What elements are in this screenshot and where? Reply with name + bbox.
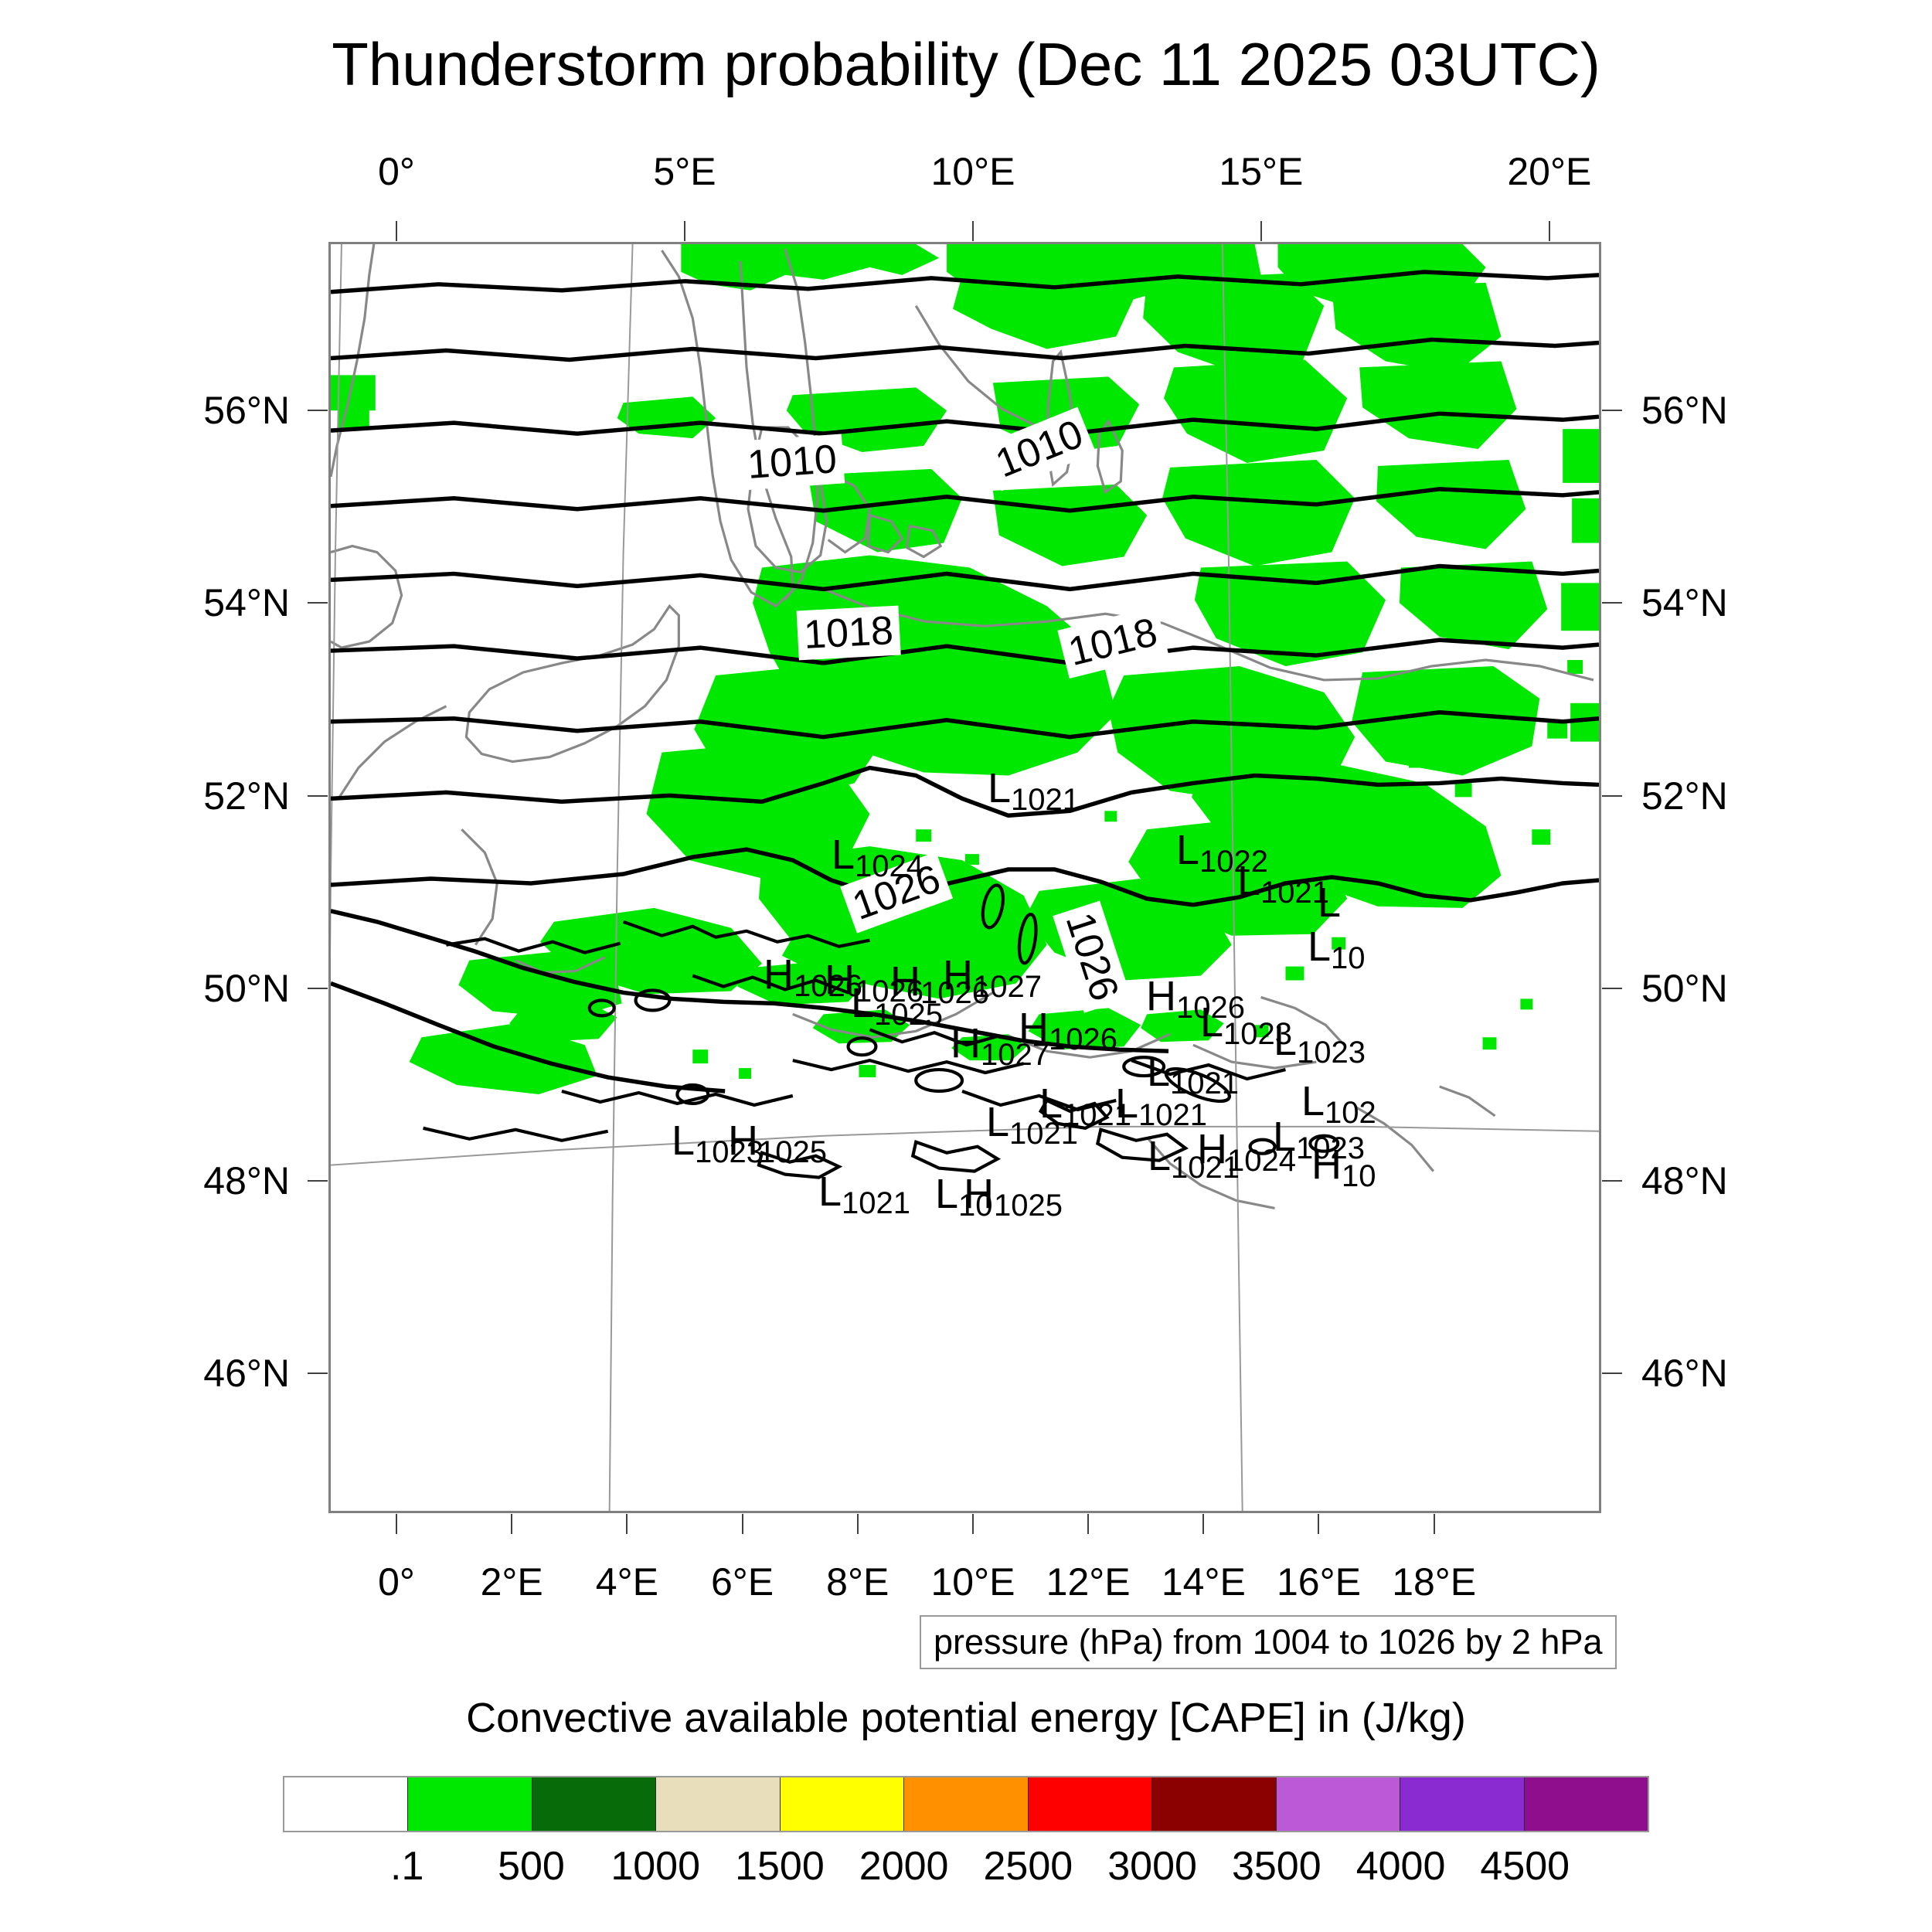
tick-mark-left-4 [308, 1180, 328, 1182]
pressure-interval-note: pressure (hPa) from 1004 to 1026 by 2 hP… [920, 1615, 1617, 1669]
colorbar-tick-9: 4500 [1480, 1843, 1570, 1889]
colorbar-segment-8[interactable] [1277, 1777, 1400, 1831]
axis-label-bottom-2: 4°E [596, 1560, 658, 1604]
tick-mark-bottom-6 [1087, 1514, 1089, 1534]
pressure-center-value: 102 [1325, 1096, 1376, 1130]
pressure-center-type: L [986, 1099, 1009, 1145]
colorbar-tick-4: 2000 [859, 1843, 949, 1889]
pressure-center-type: L [1237, 858, 1260, 904]
axis-label-right-5: 46°N [1641, 1351, 1728, 1396]
tick-mark-bottom-2 [626, 1514, 628, 1534]
pressure-center-type: L [832, 832, 855, 878]
isobar-label-1010-0: 1010 [740, 434, 845, 490]
pressure-center-l-9: L1021 [1115, 1083, 1207, 1124]
axis-label-left-2: 52°N [97, 774, 290, 818]
pressure-center-type: H [943, 952, 973, 998]
tick-mark-right-1 [1602, 602, 1622, 604]
pressure-center-l-6: L1023 [1274, 1020, 1366, 1062]
pressure-center-type: L [1176, 827, 1199, 873]
colorbar-segment-5[interactable] [904, 1777, 1028, 1831]
pressure-center-value: 1024 [855, 849, 923, 883]
axis-label-top-3: 15°E [1219, 149, 1303, 194]
page-title: Thunderstorm probability (Dec 11 2025 03… [0, 29, 1932, 100]
pressure-center-l-10: L1021 [986, 1101, 1078, 1143]
isobar-label-1018-2: 1018 [797, 606, 901, 661]
colorbar[interactable] [283, 1776, 1649, 1832]
colorbar-segment-9[interactable] [1400, 1777, 1524, 1831]
pressure-center-l-16: L102 [1301, 1080, 1376, 1122]
axis-label-bottom-0: 0° [378, 1560, 415, 1604]
colorbar-segment-1[interactable] [408, 1777, 532, 1831]
tick-mark-bottom-8 [1318, 1514, 1319, 1534]
tick-mark-top-1 [684, 221, 685, 241]
tick-mark-top-4 [1549, 221, 1550, 241]
pressure-center-h-22: H1027 [943, 954, 1042, 996]
tick-mark-bottom-3 [742, 1514, 743, 1534]
pressure-center-type: H [1311, 1141, 1342, 1188]
pressure-center-type: H [825, 957, 855, 1003]
axis-label-top-2: 10°E [930, 149, 1015, 194]
tick-mark-bottom-0 [396, 1514, 397, 1534]
colorbar-tick-7: 3500 [1232, 1843, 1321, 1889]
tick-mark-bottom-5 [972, 1514, 974, 1534]
axis-label-bottom-3: 6°E [711, 1560, 774, 1604]
colorbar-segment-6[interactable] [1029, 1777, 1152, 1831]
pressure-center-value: 1027 [981, 1038, 1049, 1072]
colorbar-segment-2[interactable] [532, 1777, 656, 1831]
axis-label-bottom-7: 14°E [1162, 1560, 1246, 1604]
pressure-center-value: 10 [1342, 1159, 1376, 1193]
tick-mark-right-2 [1602, 795, 1622, 797]
pressure-center-value: 1021 [1009, 1117, 1078, 1151]
pressure-center-h-29: H10 [1311, 1144, 1376, 1185]
pressure-center-l-3: L1021 [1237, 860, 1329, 902]
axis-label-right-2: 52°N [1641, 774, 1728, 818]
tick-mark-left-2 [308, 795, 328, 797]
axis-label-bottom-6: 12°E [1046, 1560, 1131, 1604]
tick-mark-left-0 [308, 410, 328, 411]
pressure-center-value: 1026 [1049, 1022, 1117, 1056]
tick-mark-top-0 [396, 221, 397, 241]
axis-label-left-4: 48°N [97, 1158, 290, 1203]
colorbar-tick-2: 1000 [611, 1843, 700, 1889]
pressure-center-type: L [1318, 879, 1341, 926]
colorbar-tick-8: 4000 [1356, 1843, 1446, 1889]
pressure-center-value: 1025 [758, 1135, 827, 1169]
tick-mark-right-0 [1602, 410, 1622, 411]
pressure-center-l-18: L [1318, 882, 1341, 923]
pressure-center-h-27: H1025 [728, 1120, 827, 1162]
axis-label-left-0: 56°N [97, 388, 290, 433]
pressure-center-type: H [951, 1020, 981, 1066]
axis-label-top-1: 5°E [653, 149, 716, 194]
pressure-center-l-0: L1021 [988, 767, 1080, 809]
pressure-center-l-17: L10 [1308, 926, 1366, 968]
tick-mark-left-1 [308, 602, 328, 604]
pressure-center-value: 1027 [973, 970, 1042, 1004]
colorbar-tick-5: 2500 [984, 1843, 1073, 1889]
tick-mark-top-2 [972, 221, 974, 241]
axis-label-bottom-5: 10°E [930, 1560, 1015, 1604]
pressure-center-type: L [988, 765, 1011, 811]
pressure-center-value: 1021 [842, 1186, 910, 1220]
pressure-center-value: 1026 [1176, 991, 1245, 1025]
axis-label-right-3: 50°N [1641, 966, 1728, 1011]
pressure-center-type: H [728, 1117, 758, 1164]
pressure-center-type: H [1146, 973, 1176, 1019]
tick-mark-bottom-1 [511, 1514, 512, 1534]
colorbar-title: Convective available potential energy [C… [0, 1694, 1932, 1742]
axis-label-right-4: 48°N [1641, 1158, 1728, 1203]
tick-mark-right-3 [1602, 988, 1622, 989]
colorbar-segment-0[interactable] [284, 1777, 408, 1831]
colorbar-tick-6: 3000 [1107, 1843, 1197, 1889]
axis-label-right-0: 56°N [1641, 388, 1728, 433]
tick-mark-left-5 [308, 1372, 328, 1374]
pressure-center-type: L [672, 1117, 695, 1164]
axis-label-left-5: 46°N [97, 1351, 290, 1396]
pressure-center-value: 1025 [994, 1189, 1063, 1223]
pressure-center-type: H [964, 1171, 994, 1217]
map-plot-area[interactable] [328, 242, 1601, 1513]
pressure-center-type: L [935, 1171, 958, 1217]
colorbar-segment-4[interactable] [781, 1777, 904, 1831]
colorbar-segment-3[interactable] [656, 1777, 780, 1831]
axis-label-left-3: 50°N [97, 966, 290, 1011]
pressure-center-h-26: H1024 [1197, 1128, 1296, 1170]
pressure-center-type: L [1115, 1080, 1138, 1127]
colorbar-tick-0: .1 [390, 1843, 423, 1889]
pressure-center-h-23: H1026 [1146, 975, 1245, 1017]
axis-label-top-4: 20°E [1507, 149, 1591, 194]
colorbar-tick-3: 1500 [735, 1843, 825, 1889]
tick-mark-right-5 [1602, 1372, 1622, 1374]
pressure-center-type: L [1274, 1018, 1297, 1064]
axis-label-bottom-8: 16°E [1277, 1560, 1361, 1604]
pressure-center-h-25: H1027 [951, 1022, 1049, 1064]
pressure-center-type: L [1148, 1133, 1171, 1179]
pressure-center-type: H [764, 951, 794, 998]
pressure-center-type: H [1197, 1126, 1227, 1172]
tick-mark-right-4 [1602, 1180, 1622, 1182]
tick-mark-bottom-4 [857, 1514, 859, 1534]
colorbar-segment-7[interactable] [1152, 1777, 1276, 1831]
axis-label-right-1: 54°N [1641, 580, 1728, 625]
pressure-center-type: L [1308, 923, 1331, 970]
colorbar-tick-1: 500 [498, 1843, 565, 1889]
colorbar-segment-10[interactable] [1525, 1777, 1648, 1831]
axis-label-bottom-9: 18°E [1392, 1560, 1476, 1604]
axis-label-bottom-1: 2°E [481, 1560, 543, 1604]
pressure-center-type: H [890, 958, 920, 1005]
axis-label-left-1: 54°N [97, 580, 290, 625]
tick-mark-bottom-7 [1202, 1514, 1204, 1534]
axis-label-bottom-4: 8°E [826, 1560, 889, 1604]
tick-mark-bottom-9 [1434, 1514, 1435, 1534]
map-canvas [331, 244, 1599, 1511]
colorbar-tick-labels: .150010001500200025003000350040004500 [283, 1843, 1649, 1897]
pressure-center-h-28: H1025 [964, 1173, 1063, 1215]
pressure-center-value: 10 [1331, 941, 1366, 975]
pressure-center-l-1: L1024 [832, 834, 923, 876]
tick-mark-top-3 [1260, 221, 1262, 241]
pressure-center-value: 1024 [1227, 1144, 1296, 1178]
pressure-center-value: 1023 [1297, 1036, 1366, 1070]
tick-mark-left-3 [308, 988, 328, 989]
pressure-center-type: L [1301, 1078, 1325, 1124]
axis-label-top-0: 0° [378, 149, 415, 194]
pressure-center-value: 1021 [1011, 783, 1080, 817]
pressure-center-l-14: L1021 [818, 1171, 910, 1213]
pressure-center-type: L [818, 1168, 842, 1215]
